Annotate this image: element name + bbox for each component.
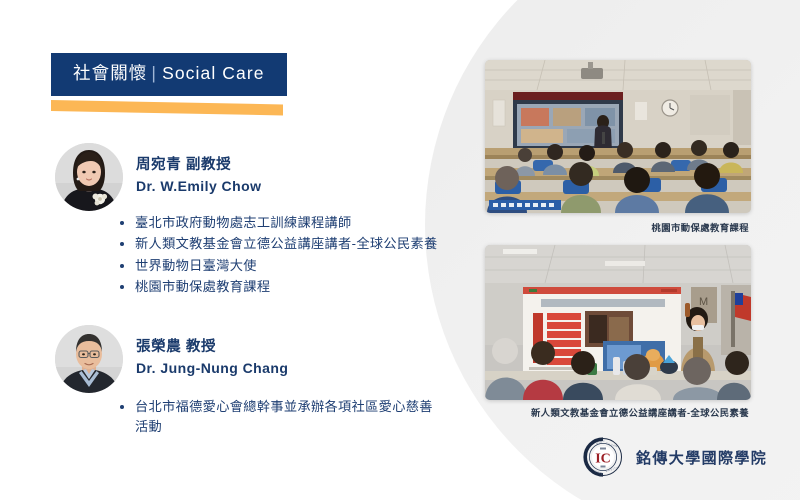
person-name-cn: 周宛青 副教授 bbox=[136, 155, 261, 176]
person-entry-1: 周宛青 副教授 Dr. W.Emily Chow bbox=[55, 143, 261, 211]
person-names-1: 周宛青 副教授 Dr. W.Emily Chow bbox=[136, 143, 261, 197]
classroom-lecture-photo-icon bbox=[485, 60, 751, 213]
svg-text:M: M bbox=[699, 296, 708, 308]
logo-ic-text: IC bbox=[595, 452, 611, 467]
list-item: 臺北市政府動物處志工訓練課程講師 bbox=[118, 213, 438, 233]
institution-name: 銘傳大學國際學院 bbox=[636, 447, 767, 468]
mcu-ic-seal-logo-icon: IC M I N G C H U A N U N I V E R S I T Y bbox=[583, 437, 623, 477]
list-item: 世界動物日臺灣大使 bbox=[118, 256, 438, 276]
list-item: 台北市福德愛心會總幹事並承辦各項社區愛心慈善活動 bbox=[118, 397, 438, 438]
photo-caption-2: 新人類文教基金會立德公益講座講者-全球公民素養 bbox=[531, 405, 749, 419]
photo-seminar-presentation: M bbox=[485, 245, 751, 400]
photo-classroom-lecture bbox=[485, 60, 751, 213]
photo-caption-1: 桃園市動保處教育課程 bbox=[652, 220, 749, 234]
slide-canvas: 社會關懷|Social Care bbox=[0, 0, 800, 500]
person-1-credentials-list: 臺北市政府動物處志工訓練課程講師 新人類文教基金會立德公益講座講者-全球公民素養… bbox=[118, 213, 438, 299]
left-content-column: 周宛青 副教授 Dr. W.Emily Chow 臺北市政府動物處志工訓練課程講… bbox=[0, 0, 460, 500]
person-2-credentials-list: 台北市福德愛心會總幹事並承辦各項社區愛心慈善活動 bbox=[118, 397, 438, 439]
institution-logo: IC M I N G C H U A N U N I V E R S I T Y bbox=[583, 437, 623, 477]
person-header-1: 周宛青 副教授 Dr. W.Emily Chow bbox=[55, 143, 261, 211]
avatar-photo-male-icon bbox=[55, 325, 123, 393]
list-item: 桃園市動保處教育課程 bbox=[118, 277, 438, 297]
footer-branding: IC M I N G C H U A N U N I V E R S I T Y… bbox=[583, 437, 767, 477]
avatar bbox=[55, 143, 123, 211]
person-name-en: Dr. W.Emily Chow bbox=[136, 176, 261, 197]
person-header-2: 張榮農 教授 Dr. Jung-Nung Chang bbox=[55, 325, 288, 393]
avatar bbox=[55, 325, 123, 393]
person-name-en: Dr. Jung-Nung Chang bbox=[136, 358, 288, 379]
person-name-cn: 張榮農 教授 bbox=[136, 337, 288, 358]
list-item: 新人類文教基金會立德公益講座講者-全球公民素養 bbox=[118, 234, 438, 254]
person-names-2: 張榮農 教授 Dr. Jung-Nung Chang bbox=[136, 325, 288, 379]
seminar-presentation-photo-icon: M bbox=[485, 245, 751, 400]
person-entry-2: 張榮農 教授 Dr. Jung-Nung Chang bbox=[55, 325, 288, 393]
avatar-photo-female-icon bbox=[55, 143, 123, 211]
